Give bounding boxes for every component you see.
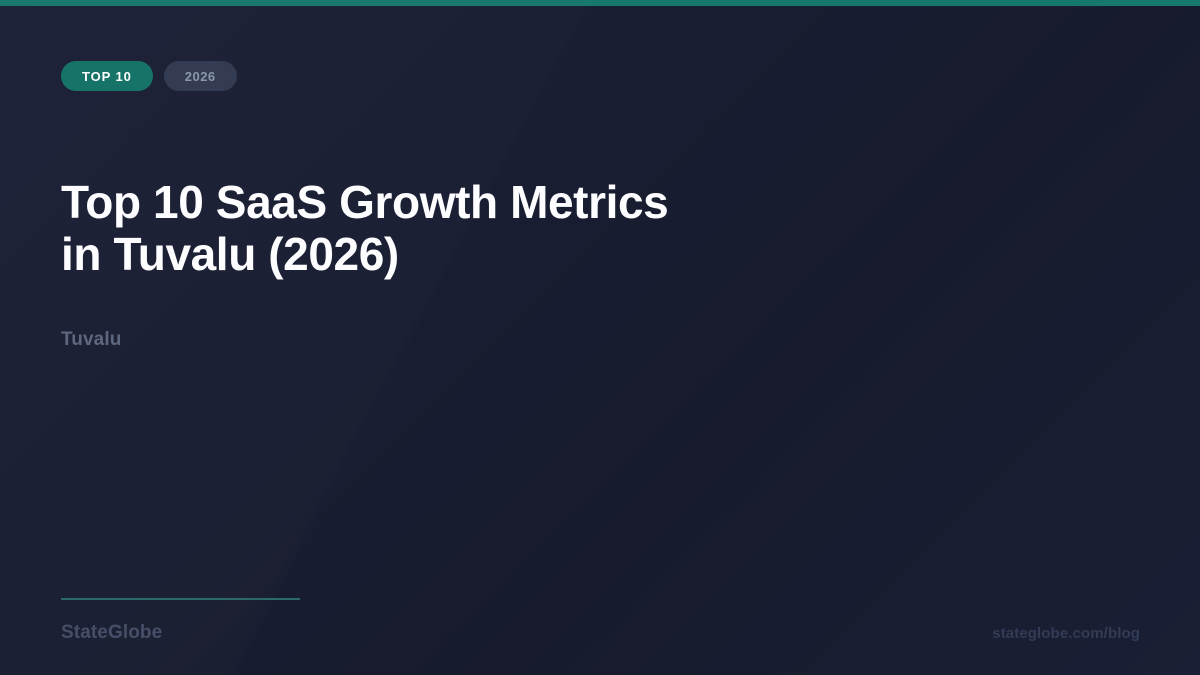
footer-divider [61,598,300,600]
site-url: stateglobe.com/blog [992,625,1140,642]
subtitle-location: Tuvalu [61,329,121,351]
page-title: Top 10 SaaS Growth Metrics in Tuvalu (20… [61,176,781,280]
badge-group: TOP 10 2026 [61,61,237,91]
brand-name: StateGlobe [61,622,162,644]
background-sheen [0,0,1200,675]
badge-year[interactable]: 2026 [164,61,237,91]
title-slide: TOP 10 2026 Top 10 SaaS Growth Metrics i… [0,0,1200,675]
badge-top-10[interactable]: TOP 10 [61,61,153,91]
page-title-line-2: in Tuvalu (2026) [61,228,781,280]
top-accent-bar [0,0,1200,6]
page-title-line-1: Top 10 SaaS Growth Metrics [61,176,781,228]
